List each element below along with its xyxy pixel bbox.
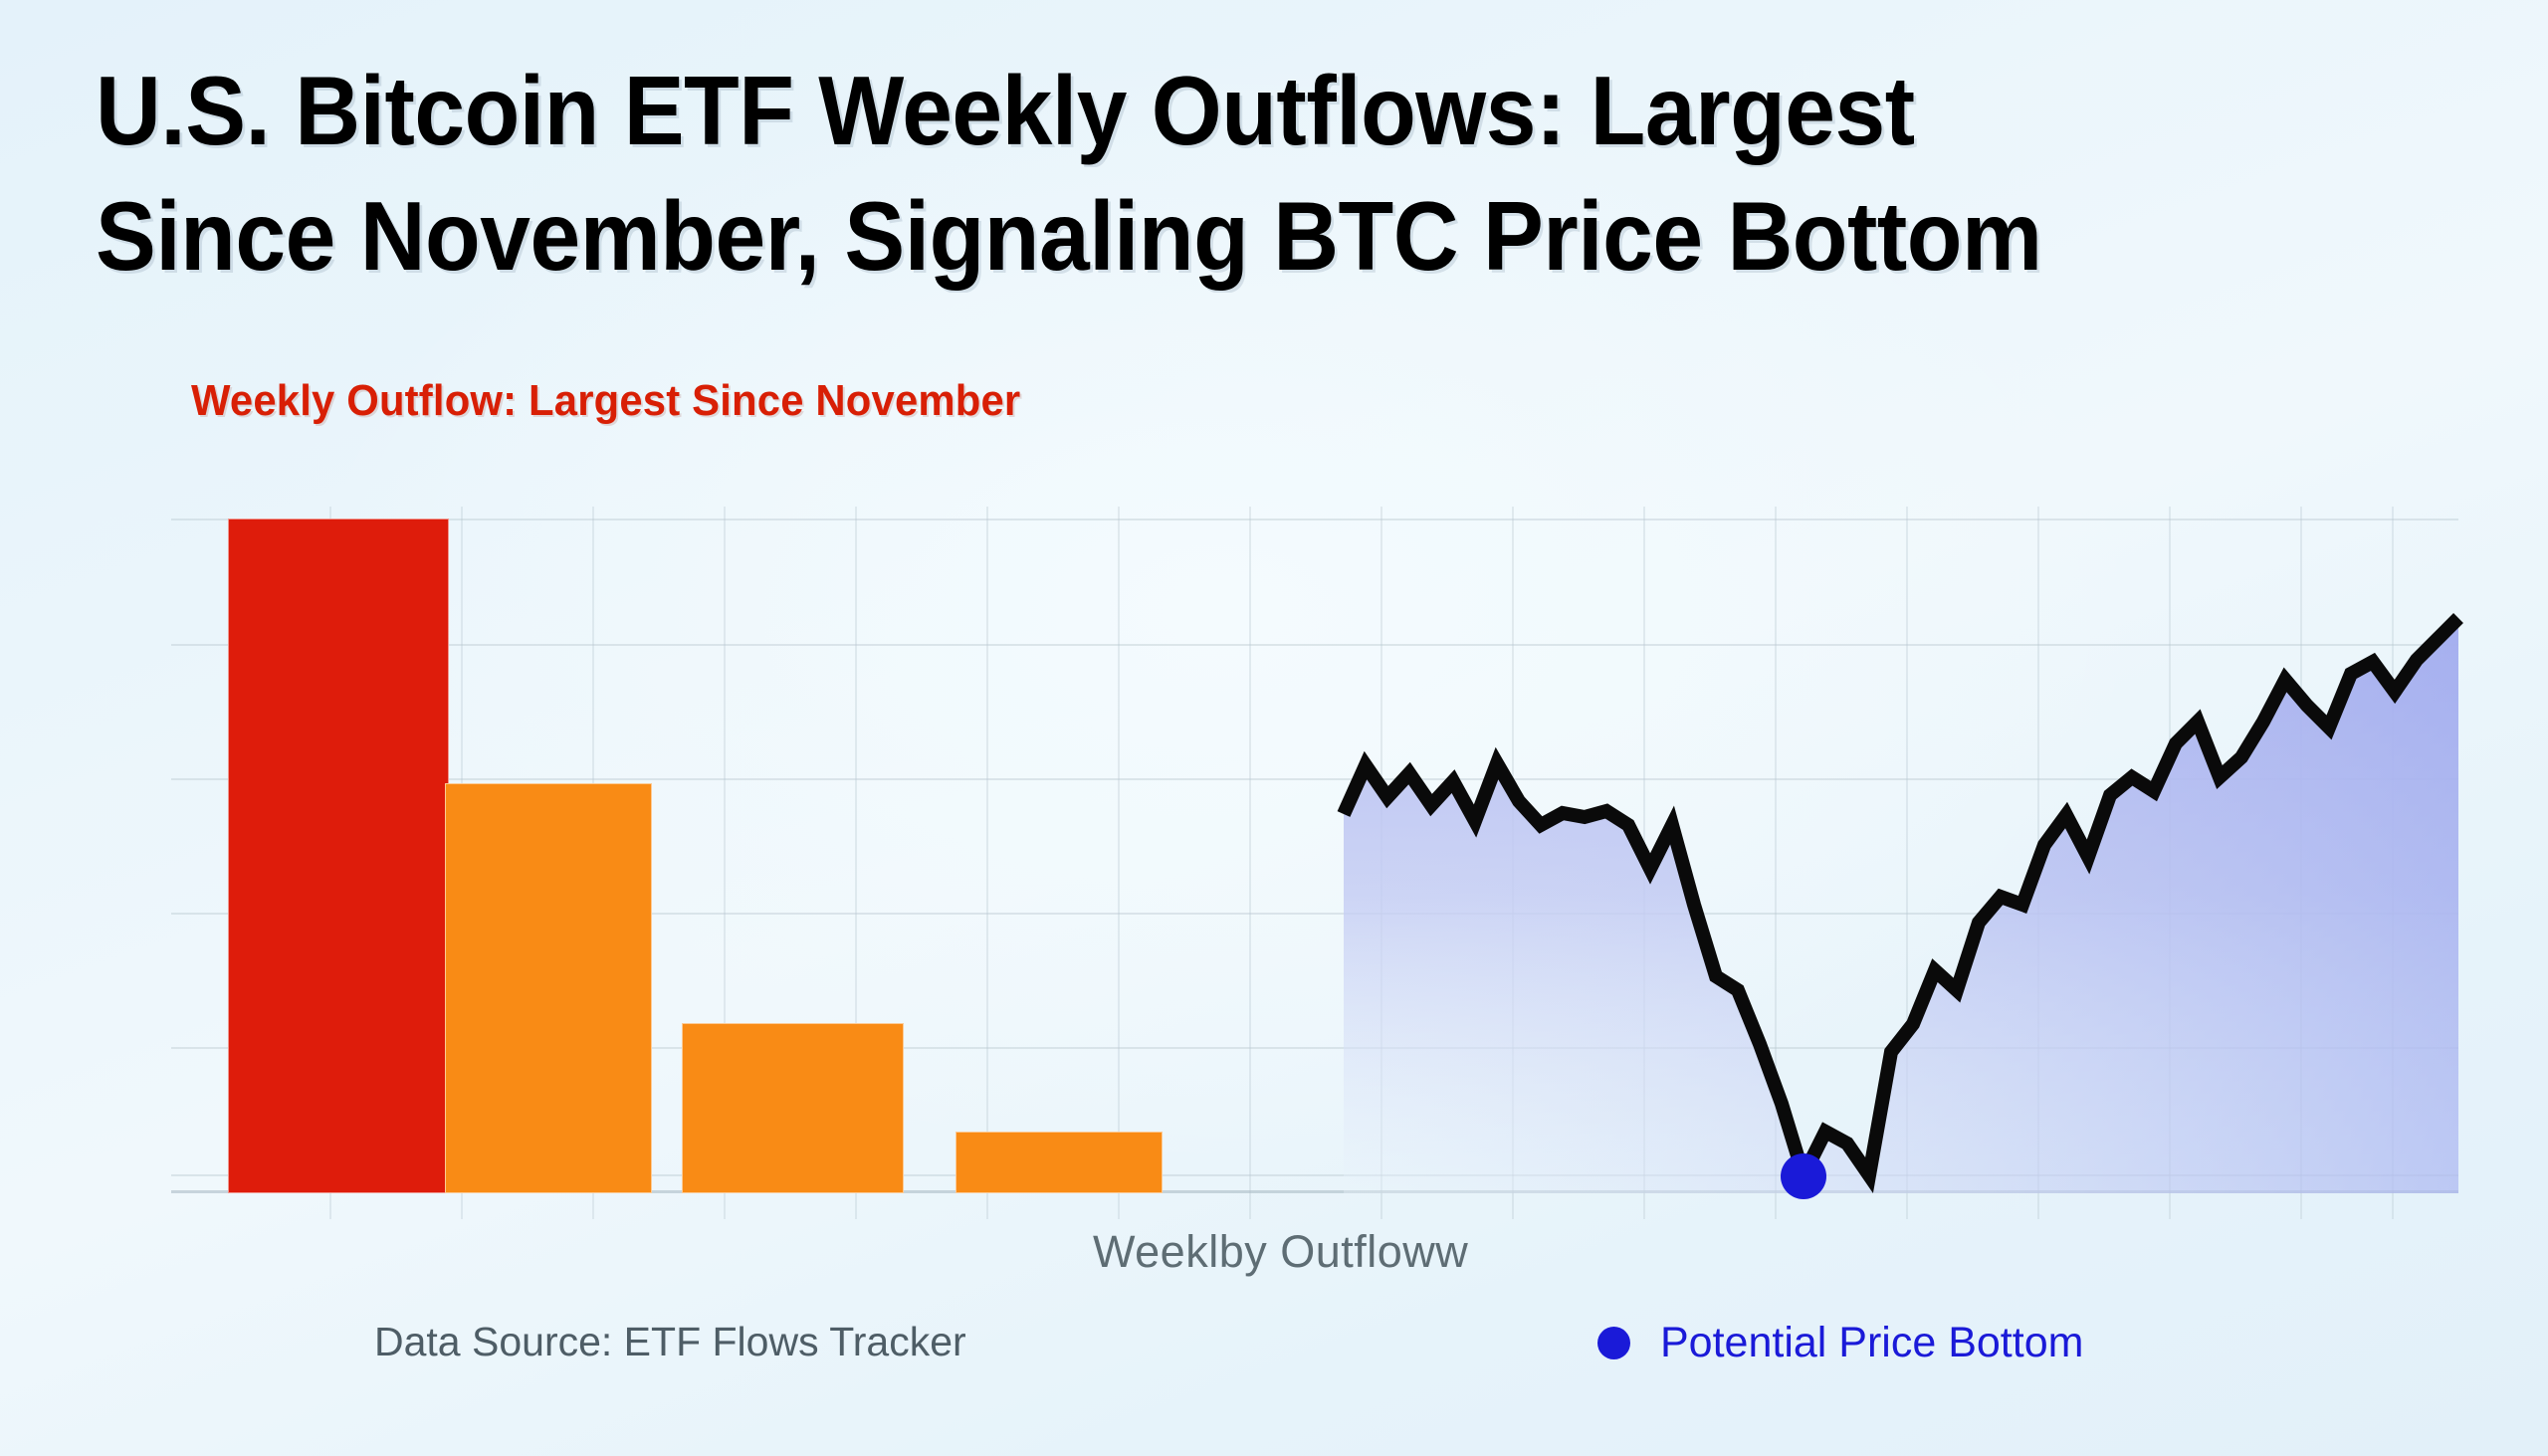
price-line-chart <box>171 507 2458 1193</box>
page-title: U.S. Bitcoin ETF Weekly Outflows: Larges… <box>96 62 2484 285</box>
title-line-1: U.S. Bitcoin ETF Weekly Outflows: Larges… <box>96 62 2317 159</box>
data-source-label: Data Source: ETF Flows Tracker <box>374 1319 966 1365</box>
chart-legend: Potential Price Bottom <box>1597 1319 2083 1367</box>
infographic-canvas: U.S. Bitcoin ETF Weekly Outflows: Larges… <box>0 0 2548 1456</box>
x-axis-label: Weeklby Outfloww <box>1093 1226 1468 1278</box>
legend-label: Potential Price Bottom <box>1660 1319 2083 1367</box>
price-bottom-marker-icon <box>1781 1153 1826 1199</box>
chart-caption: Weekly Outflow: Largest Since November <box>191 376 1020 426</box>
title-line-2: Since November, Signaling BTC Price Bott… <box>96 187 2317 285</box>
price-area-fill-overlay <box>1344 618 2458 1193</box>
chart-plot-area <box>171 507 2458 1193</box>
blue-dot-icon <box>1597 1327 1630 1359</box>
